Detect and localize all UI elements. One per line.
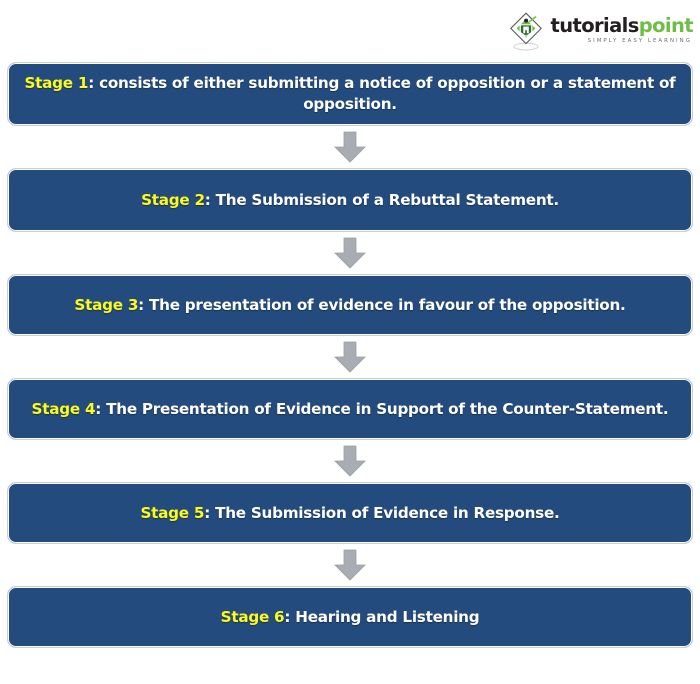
flow-step-2-body: The Submission of a Rebuttal Statement. — [216, 191, 559, 209]
flow-step-2-text: Stage 2: The Submission of a Rebuttal St… — [141, 190, 559, 211]
flow-step-5-text: Stage 5: The Submission of Evidence in R… — [140, 503, 559, 524]
flow-step-3-separator: : — [138, 296, 149, 314]
arrow-down-icon — [333, 341, 367, 373]
tutorialspoint-diamond-icon — [506, 10, 546, 52]
flow-step-3-text: Stage 3: The presentation of evidence in… — [74, 295, 625, 316]
flow-step-5[interactable]: Stage 5: The Submission of Evidence in R… — [7, 482, 693, 544]
arrow-down-icon — [333, 549, 367, 581]
flow-step-3-label: Stage 3 — [74, 296, 138, 314]
flow-step-5-separator: : — [204, 504, 215, 522]
flow-step-4-separator: : — [95, 400, 106, 418]
flow-connector-1-2 — [0, 126, 700, 168]
flow-connector-5-6 — [0, 544, 700, 586]
flow-step-6[interactable]: Stage 6: Hearing and Listening — [7, 586, 693, 648]
flow-step-6-label: Stage 6 — [221, 608, 285, 626]
tutorialspoint-logo[interactable]: tutorialspoint SIMPLY EASY LEARNING — [506, 9, 693, 53]
flow-step-2-separator: : — [205, 191, 216, 209]
flow-step-2-label: Stage 2 — [141, 191, 205, 209]
flow-connector-4-5 — [0, 440, 700, 482]
arrow-down-icon — [333, 445, 367, 477]
flow-connector-2-3 — [0, 232, 700, 274]
logo-name-part1: tutorials — [550, 14, 638, 37]
flow-step-4-label: Stage 4 — [32, 400, 96, 418]
flow-step-5-body: The Submission of Evidence in Response. — [215, 504, 559, 522]
process-flow-diagram: Stage 1: consists of either submitting a… — [0, 62, 700, 648]
flow-step-6-separator: : — [284, 608, 295, 626]
flow-step-4[interactable]: Stage 4: The Presentation of Evidence in… — [7, 378, 693, 440]
arrow-down-icon — [333, 237, 367, 269]
logo-name: tutorialspoint — [550, 16, 693, 36]
flow-connector-3-4 — [0, 336, 700, 378]
flow-step-4-text: Stage 4: The Presentation of Evidence in… — [32, 399, 669, 420]
flow-step-1[interactable]: Stage 1: consists of either submitting a… — [7, 62, 693, 126]
logo-wordmark: tutorialspoint SIMPLY EASY LEARNING — [550, 16, 693, 46]
arrow-down-icon — [333, 131, 367, 163]
flow-step-3-body: The presentation of evidence in favour o… — [149, 296, 626, 314]
flow-step-5-label: Stage 5 — [140, 504, 204, 522]
flow-step-6-text: Stage 6: Hearing and Listening — [221, 607, 480, 628]
flow-step-1-separator: : — [88, 74, 99, 92]
flow-step-1-body: consists of either submitting a notice o… — [99, 74, 675, 113]
flow-step-6-body: Hearing and Listening — [295, 608, 479, 626]
logo-tagline: SIMPLY EASY LEARNING — [550, 39, 693, 44]
flow-step-1-text: Stage 1: consists of either submitting a… — [20, 73, 680, 115]
flow-step-4-body: The Presentation of Evidence in Support … — [106, 400, 668, 418]
flow-step-3[interactable]: Stage 3: The presentation of evidence in… — [7, 274, 693, 336]
page-header: tutorialspoint SIMPLY EASY LEARNING — [0, 0, 700, 62]
logo-name-part2: point — [639, 14, 693, 37]
flow-step-1-label: Stage 1 — [24, 74, 88, 92]
flow-step-2[interactable]: Stage 2: The Submission of a Rebuttal St… — [7, 168, 693, 232]
